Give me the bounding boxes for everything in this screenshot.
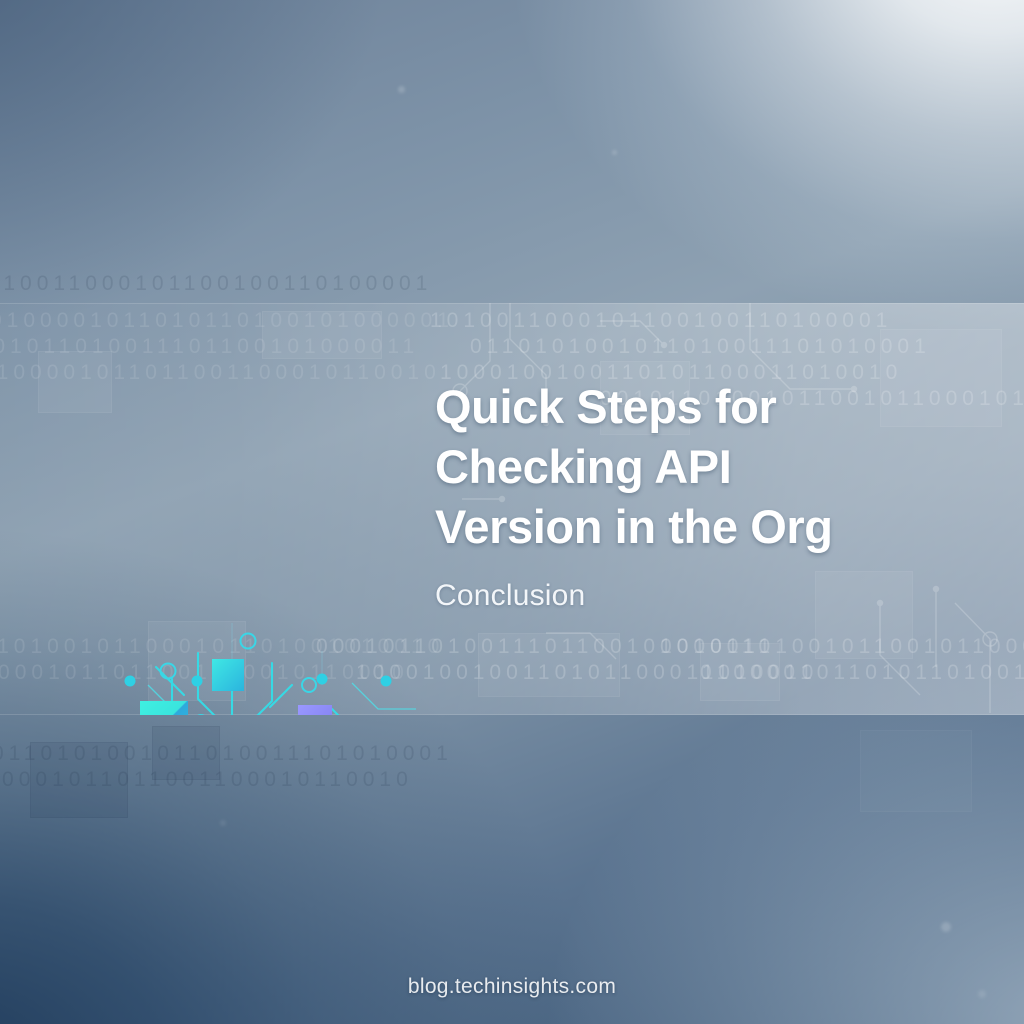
title-line-1: Quick Steps for [435, 380, 776, 433]
social-card-canvas: 0100001011010110100101000001 00010110100… [0, 0, 1024, 1024]
binary-text-row: 0100001011010110100101000001 [0, 309, 454, 333]
binary-text-row: 0001011010011101100101000011 [0, 335, 419, 359]
binary-text-row: 1010011000101100100110100001 [0, 272, 432, 296]
bokeh-particle [941, 922, 951, 932]
decor-panel [152, 726, 220, 780]
purple-square-top [298, 705, 332, 715]
bokeh-particle [220, 820, 226, 826]
title-line-2: Checking API [435, 440, 731, 493]
hero-text-block: Quick Steps for Checking API Version in … [435, 377, 955, 613]
bokeh-particle [398, 86, 405, 93]
content-band: 0100001011010110100101000001 00010110100… [0, 303, 1024, 715]
binary-text-row: 0100001011011001100010110010 [0, 361, 441, 385]
decor-panel [30, 742, 128, 818]
cyan-square-large-left [140, 701, 188, 715]
decor-panel [860, 730, 972, 812]
footer-url: blog.techinsights.com [0, 975, 1024, 999]
bokeh-particle [612, 150, 617, 155]
page-subtitle: Conclusion [435, 579, 955, 613]
title-line-3: Version in the Org [435, 500, 833, 553]
page-title: Quick Steps for Checking API Version in … [435, 377, 955, 557]
cyan-square-top [212, 659, 244, 691]
hexagon-check-circuit-graphic [22, 623, 442, 715]
